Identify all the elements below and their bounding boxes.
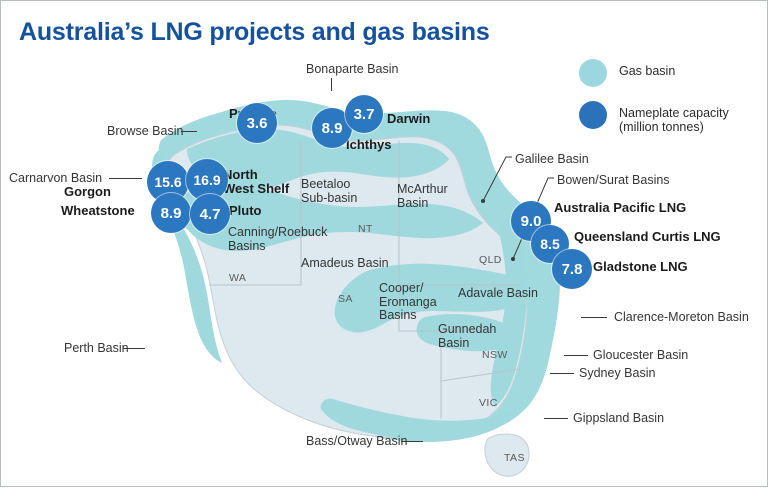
capacity-value-wheatstone: 8.9 [161, 205, 182, 222]
capacity-value-australia-pacific-lng: 9.0 [521, 213, 542, 230]
state-wa: WA [229, 272, 246, 286]
capacity-bubble-darwin[interactable]: 3.7 [345, 95, 383, 133]
capacity-value-pluto: 4.7 [200, 206, 221, 223]
capacity-bubble-wheatstone[interactable]: 8.9 [151, 193, 191, 233]
state-nt: NT [358, 223, 373, 237]
browse-basin: Browse Basin [107, 125, 183, 139]
adavale-basin: Adavale Basin [458, 287, 538, 301]
capacity-bubble-gladstone-lng[interactable]: 7.8 [552, 249, 592, 289]
capacity-value-gorgon: 15.6 [154, 174, 181, 190]
amadeus-basin: Amadeus Basin [301, 257, 389, 271]
gorgon-label: Gorgon [64, 185, 111, 199]
leader-carnarvon [109, 178, 142, 179]
ichthys-label: Ichthys [346, 138, 392, 152]
australia-pacific-lng-label: Australia Pacific LNG [554, 201, 686, 215]
nameplate-capacity-swatch-icon [579, 101, 607, 129]
perth-basin: Perth Basin [64, 342, 129, 356]
leader-bowen-dot [511, 257, 515, 261]
clarence-moreton-basin: Clarence-Moreton Basin [614, 311, 749, 325]
bowen-surat-basins: Bowen/Surat Basins [557, 174, 670, 188]
state-vic: VIC [479, 397, 498, 411]
legend-item-nameplate-capacity: Nameplate capacity (million tonnes) [579, 101, 759, 134]
legend-label-gas-basin: Gas basin [619, 59, 675, 78]
legend-label-nameplate-capacity: Nameplate capacity (million tonnes) [619, 101, 729, 134]
gloucester-basin: Gloucester Basin [593, 349, 688, 363]
north-west-shelf-label: NorthWest Shelf [223, 168, 289, 195]
canning-roebuck-basins: Canning/RoebuckBasins [228, 226, 327, 253]
capacity-value-gladstone-lng: 7.8 [562, 261, 583, 278]
capacity-bubble-prelude[interactable]: 3.6 [237, 103, 277, 143]
queensland-curtis-lng-label: Queensland Curtis LNG [574, 230, 721, 244]
darwin-label: Darwin [387, 112, 430, 126]
beetaloo-sub-basin: BeetalooSub-basin [301, 178, 357, 205]
leader-gippsland [544, 418, 568, 419]
capacity-value-prelude: 3.6 [247, 115, 268, 132]
state-nsw: NSW [482, 349, 508, 363]
capacity-value-queensland-curtis-lng: 8.5 [540, 236, 559, 252]
leader-galilee-dot [481, 199, 485, 203]
legend: Gas basin Nameplate capacity (million to… [579, 59, 759, 148]
capacity-value-darwin: 3.7 [354, 106, 375, 123]
state-sa: SA [338, 293, 353, 307]
gippsland-basin: Gippsland Basin [573, 412, 664, 426]
leader-bonaparte [331, 78, 332, 91]
mcarthur-basin: McArthurBasin [397, 183, 448, 210]
state-qld: QLD [479, 254, 502, 268]
wheatstone-label: Wheatstone [61, 204, 135, 218]
legend-label-nameplate-main: Nameplate capacity [619, 106, 729, 120]
pluto-label: Pluto [229, 204, 262, 218]
capacity-value-ichthys: 8.9 [322, 120, 343, 137]
leader-sydney [550, 373, 574, 374]
galilee-basin: Galilee Basin [515, 153, 589, 167]
legend-label-nameplate-sub: (million tonnes) [619, 120, 729, 134]
leader-gloucester [564, 355, 588, 356]
bass-otway-basin: Bass/Otway Basin [306, 435, 407, 449]
cooper-eromanga-basins: Cooper/EromangaBasins [379, 282, 437, 323]
leader-clarence [581, 317, 607, 318]
bonaparte-basin: Bonaparte Basin [306, 63, 398, 77]
infographic-frame: Australia’s LNG projects and gas basins [0, 0, 768, 487]
state-tas: TAS [504, 452, 525, 466]
capacity-value-north-west-shelf: 16.9 [193, 172, 220, 188]
capacity-bubble-pluto[interactable]: 4.7 [190, 194, 230, 234]
sydney-basin: Sydney Basin [579, 367, 655, 381]
gunnedah-basin: GunnedahBasin [438, 323, 496, 350]
gladstone-lng-label: Gladstone LNG [593, 260, 688, 274]
legend-item-gas-basin: Gas basin [579, 59, 759, 87]
gas-basin-swatch-icon [579, 59, 607, 87]
